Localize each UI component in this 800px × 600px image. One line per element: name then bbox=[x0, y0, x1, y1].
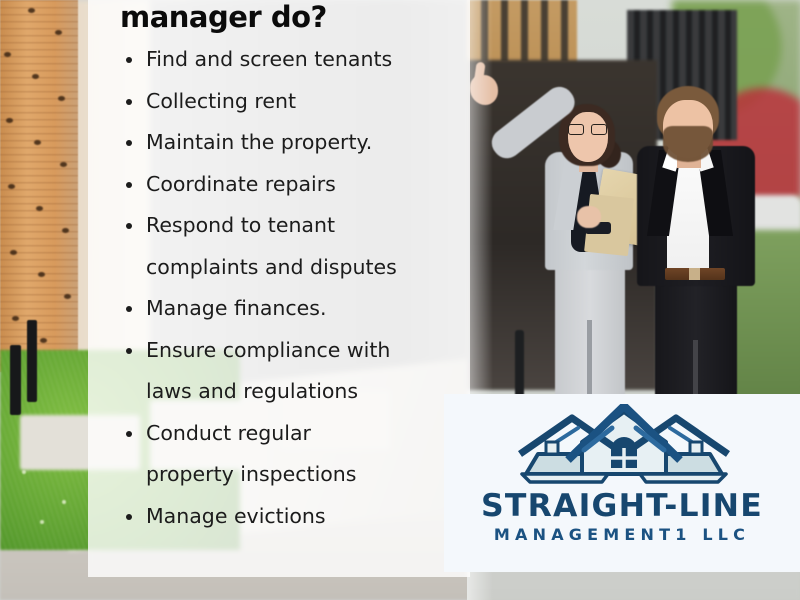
task-list-item: Manage evictions bbox=[124, 496, 460, 538]
task-list-item: Collecting rent bbox=[124, 81, 460, 123]
page-title: manager do? bbox=[120, 1, 460, 33]
task-list-item: Coordinate repairs bbox=[124, 164, 460, 206]
task-list: Find and screen tenantsCollecting rentMa… bbox=[124, 39, 460, 537]
task-list-item: Respond to tenant complaints and dispute… bbox=[124, 205, 460, 288]
house-roof-icon bbox=[516, 404, 732, 488]
content-panel: manager do? Find and screen tenantsColle… bbox=[88, 0, 470, 577]
task-list-item: Manage finances. bbox=[124, 288, 460, 330]
background-bollard-1 bbox=[10, 345, 21, 415]
task-list-item: Conduct regular property inspections bbox=[124, 413, 460, 496]
brand-tagline: MANAGEMENT1 LLC bbox=[444, 525, 800, 544]
photo-woman-glasses bbox=[568, 124, 607, 135]
task-list-item: Ensure compliance with laws and regulati… bbox=[124, 330, 460, 413]
background-bollard-2 bbox=[27, 320, 37, 402]
task-list-item: Maintain the property. bbox=[124, 122, 460, 164]
task-list-item: Find and screen tenants bbox=[124, 39, 460, 81]
logo-card: STRAIGHT-LINE MANAGEMENT1 LLC bbox=[444, 394, 800, 572]
background-brick-vents bbox=[0, 0, 78, 372]
brand-name: STRAIGHT-LINE bbox=[444, 488, 800, 524]
